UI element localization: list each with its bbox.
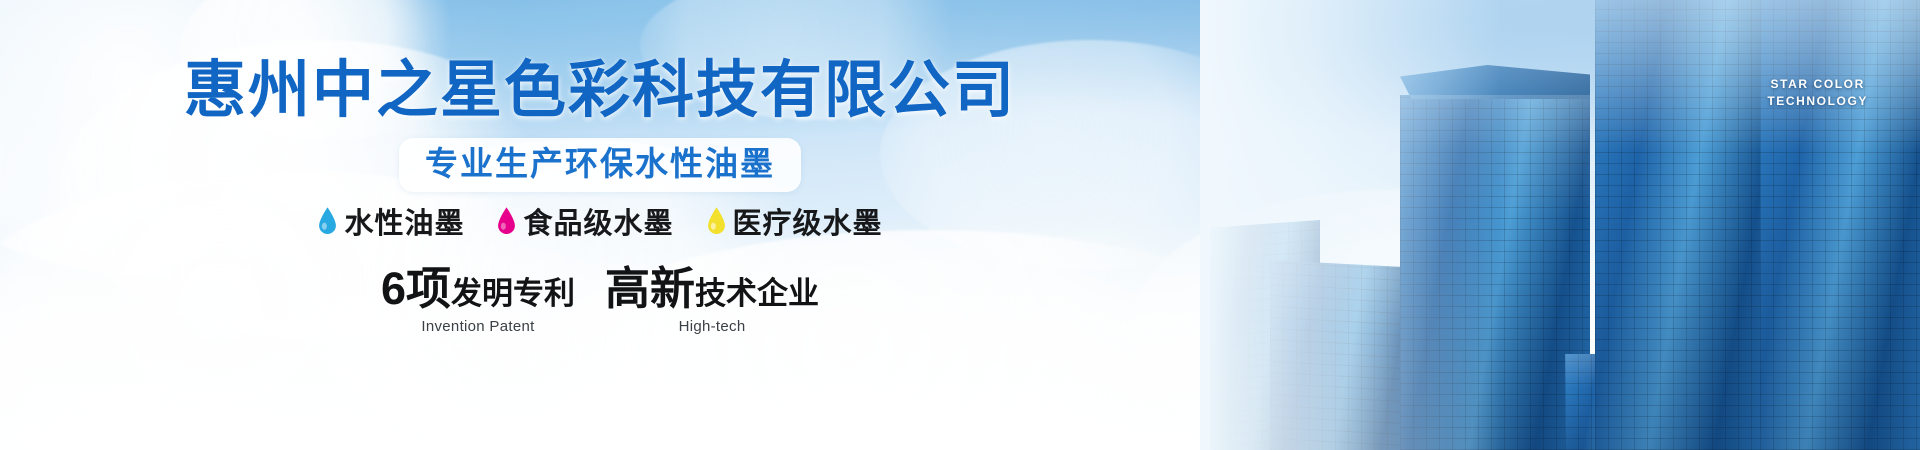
badge-english-text: High-tech [605,318,819,335]
feature-item: 医疗级水墨 [706,200,883,242]
badge-high-tech: 高新技术企业 High-tech [605,265,819,335]
skyscraper-photo [1200,0,1920,450]
corner-brand-mark: STAR COLOR TECHNOLOGY [1767,76,1868,110]
credential-badges: 6项发明专利 Invention Patent 高新技术企业 High-tech [0,265,1200,335]
badge-chinese-text: 6项发明专利 [381,265,575,313]
company-title: 惠州中之星色彩科技有限公司 [0,60,1200,122]
feature-list: 水性油墨 食品级水墨 医疗级水墨 [0,200,1200,242]
water-drop-icon [317,206,338,236]
badge-text: 发明专利 [451,276,575,311]
badge-chinese-text: 高新技术企业 [605,265,819,313]
city-left-fade [1200,0,1500,450]
badge-english-text: Invention Patent [381,318,575,335]
badge-unit: 高新 [605,263,695,314]
subtitle-container: 专业生产环保水性油墨 [0,138,1200,192]
feature-label: 食品级水墨 [523,200,673,242]
feature-label: 水性油墨 [344,200,464,242]
badge-number: 6 [381,263,406,314]
subtitle-pill: 专业生产环保水性油墨 [399,138,801,192]
corner-brand-line1: STAR COLOR [1767,76,1868,93]
banner-content: 惠州中之星色彩科技有限公司 专业生产环保水性油墨 水性油墨 食品级水墨 [0,0,1200,450]
badge-text: 技术企业 [695,276,819,311]
promotional-banner: Star Color STAR COLOR TECHNOLOGY 惠州中之星色彩… [0,0,1920,450]
feature-item: 水性油墨 [317,200,464,242]
feature-label: 医疗级水墨 [733,200,883,242]
feature-item: 食品级水墨 [496,200,673,242]
water-drop-icon [496,206,517,236]
badge-unit: 项 [406,263,451,314]
badge-invention-patent: 6项发明专利 Invention Patent [381,265,575,335]
corner-brand-line2: TECHNOLOGY [1767,93,1868,110]
water-drop-icon [706,206,727,236]
